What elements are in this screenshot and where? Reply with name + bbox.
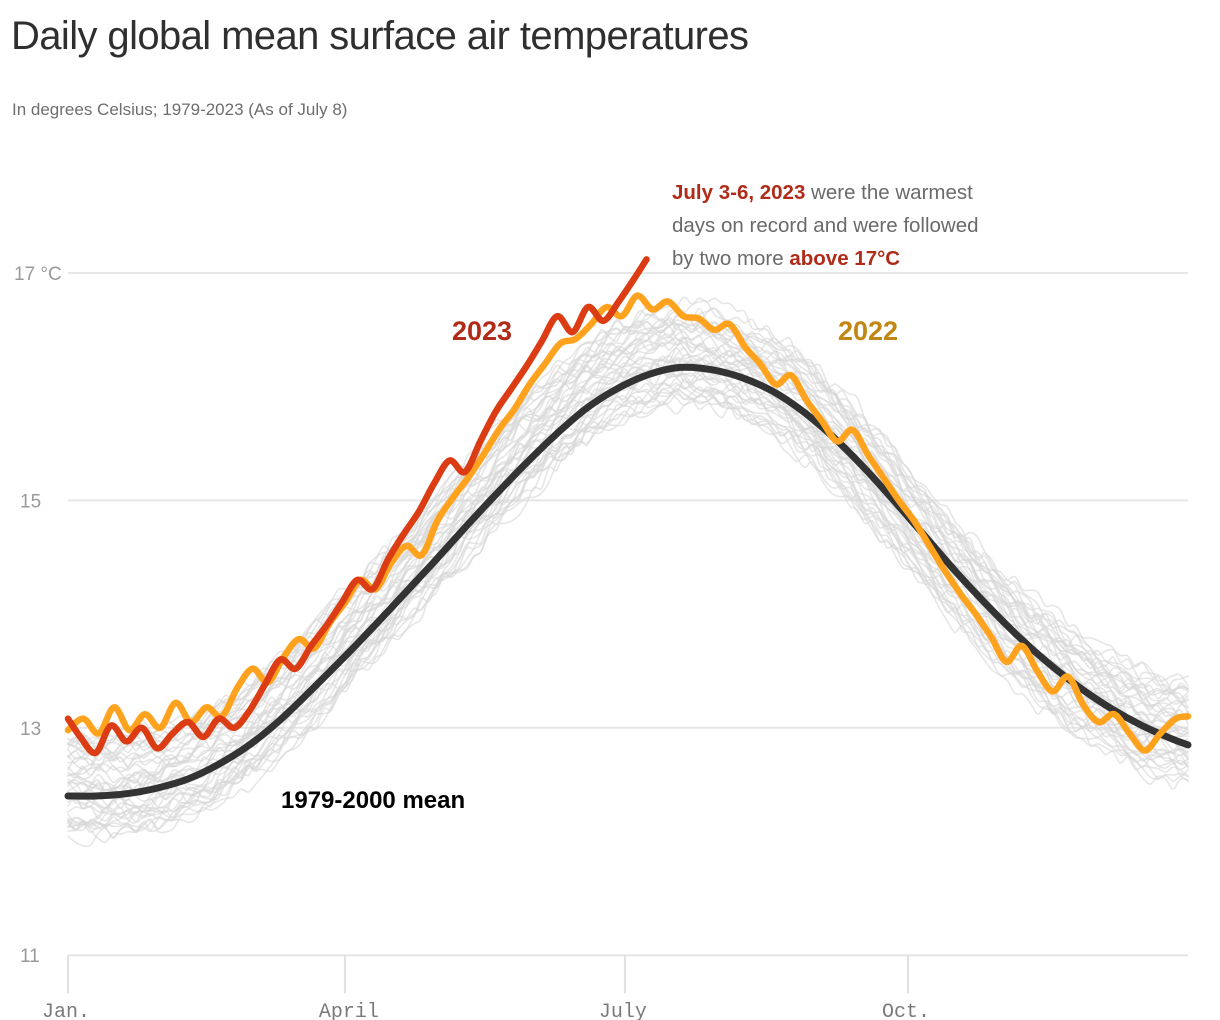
temperature-chart: Jan.AprilJulyOct. 11131517 °C 2023 2022 …: [0, 0, 1220, 1020]
y-tick-15: 15: [20, 491, 41, 512]
chart-svg: Jan.AprilJulyOct. 11131517 °C 2023 2022 …: [0, 0, 1220, 1020]
x-tick-April: April: [319, 1001, 379, 1020]
x-tick-Oct: Oct.: [882, 1001, 930, 1020]
y-tick-13: 13: [20, 719, 41, 740]
y-axis-labels: 11131517 °C: [14, 264, 62, 967]
series-label-2023: 2023: [452, 316, 512, 346]
series-label-2022: 2022: [838, 316, 898, 346]
x-tick-July: July: [599, 1001, 647, 1020]
x-tick-Jan: Jan.: [42, 1001, 90, 1020]
line-2023: [68, 259, 647, 753]
y-tick-17: 17 °C: [14, 264, 62, 285]
series-label-mean: 1979-2000 mean: [281, 787, 465, 814]
x-axis: Jan.AprilJulyOct.: [42, 955, 930, 1020]
y-tick-11: 11: [20, 946, 40, 967]
